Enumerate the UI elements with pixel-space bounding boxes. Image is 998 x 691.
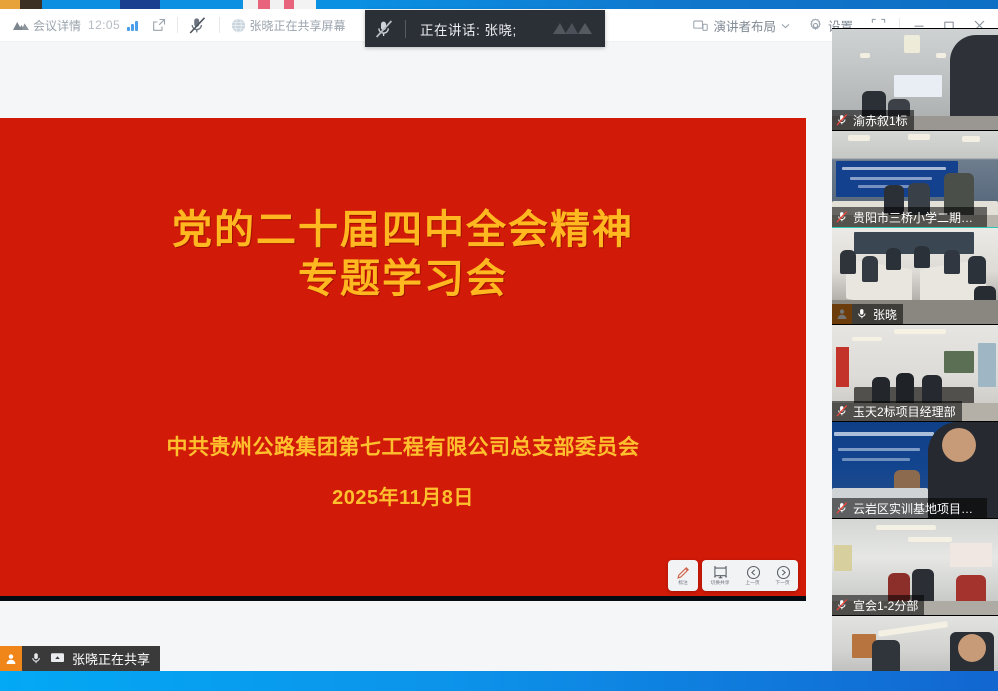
slide-bottom-bar bbox=[0, 596, 806, 601]
overlay-mic-off-icon bbox=[365, 20, 405, 38]
participant-tile[interactable]: 云岩区实训基地项目雷... bbox=[832, 421, 998, 518]
scene-light bbox=[852, 337, 882, 341]
scene-light bbox=[936, 53, 946, 58]
slide-date: 2025年11月8日 bbox=[0, 481, 806, 510]
toolbar-left-group: 会议详情 12:05 bbox=[0, 12, 353, 38]
share-area-footer bbox=[0, 604, 832, 644]
toolbar-divider bbox=[219, 17, 220, 33]
meeting-elapsed-time: 12:05 bbox=[88, 18, 120, 32]
active-speaker-label: 正在讲话: 张晓; bbox=[406, 19, 517, 39]
annotation-toolbar: 标注 bbox=[668, 560, 798, 591]
toolbar-divider bbox=[177, 17, 178, 33]
participant-name: 玉天2标项目经理部 bbox=[853, 403, 956, 420]
host-icon bbox=[5, 653, 17, 665]
next-page-button[interactable]: 下一页 bbox=[768, 560, 798, 591]
participant-tile[interactable]: 玉天2标项目经理部 bbox=[832, 324, 998, 421]
slide-title: 党的二十届四中全会精神 专题学习会 bbox=[0, 206, 806, 304]
participant-tile[interactable]: 渝赤叙1标 bbox=[832, 28, 998, 130]
annotation-group-controls: 切换共享 上一页 bbox=[702, 560, 798, 591]
scene-picture bbox=[944, 351, 974, 373]
popout-window-button[interactable] bbox=[145, 12, 173, 38]
next-page-icon bbox=[776, 565, 791, 580]
scene-light bbox=[848, 135, 870, 141]
bg-chip bbox=[0, 0, 20, 9]
participant-name: 渝赤叙1标 bbox=[853, 112, 908, 129]
next-page-label: 下一页 bbox=[776, 581, 790, 586]
scene-light bbox=[908, 134, 930, 140]
scene-poster bbox=[834, 545, 852, 571]
slide-content: 党的二十届四中全会精神 专题学习会 中共贵州公路集团第七工程有限公司总支部委员会… bbox=[0, 118, 806, 601]
mountain-logo-icon bbox=[13, 20, 29, 31]
sharer-status-label: 张晓正在共享屏幕 bbox=[250, 17, 346, 34]
prev-page-icon bbox=[746, 565, 761, 580]
bg-chip bbox=[20, 0, 42, 9]
mic-off-icon bbox=[836, 405, 849, 417]
annotate-button[interactable]: 标注 bbox=[668, 560, 698, 591]
switch-share-button[interactable]: 切换共享 bbox=[702, 560, 738, 591]
windows-taskbar[interactable] bbox=[0, 671, 998, 691]
participant-name-bar: 贵阳市三桥小学二期项目 bbox=[832, 207, 987, 227]
mic-off-icon bbox=[836, 502, 849, 514]
participant-name-bar: 张晓 bbox=[832, 304, 903, 324]
popout-window-icon bbox=[152, 18, 166, 32]
screen-share-icon bbox=[50, 652, 65, 665]
switch-share-label: 切换共享 bbox=[710, 581, 729, 586]
mic-off-icon bbox=[836, 599, 849, 611]
sharer-status: 张晓正在共享屏幕 bbox=[224, 12, 353, 38]
mic-off-icon bbox=[836, 114, 849, 126]
participant-name: 宣会1-2分部 bbox=[853, 597, 918, 614]
mic-off-icon bbox=[836, 211, 849, 223]
pencil-icon bbox=[676, 565, 691, 580]
participant-tile[interactable]: 贵阳市三桥小学二期项目 bbox=[832, 130, 998, 227]
scene-face bbox=[942, 428, 976, 462]
participant-name-bar: 宣会1-2分部 bbox=[832, 595, 924, 615]
host-badge bbox=[0, 646, 22, 671]
mute-all-button[interactable] bbox=[182, 12, 215, 38]
globe-icon bbox=[231, 18, 246, 33]
participant-name-bar: 玉天2标项目经理部 bbox=[832, 401, 962, 421]
mic-off-icon bbox=[189, 17, 208, 34]
desktop-background-strip bbox=[0, 0, 998, 9]
layout-selector-button[interactable]: 演讲者布局 bbox=[684, 13, 799, 39]
layout-icon bbox=[693, 19, 708, 33]
scene-person bbox=[914, 246, 930, 268]
meeting-details-button[interactable]: 会议详情 bbox=[6, 12, 88, 38]
presentation-slide[interactable]: 党的二十届四中全会精神 专题学习会 中共贵州公路集团第七工程有限公司总支部委员会… bbox=[0, 118, 806, 601]
mic-icon bbox=[30, 652, 43, 665]
shared-screen-area: 党的二十届四中全会精神 专题学习会 中共贵州公路集团第七工程有限公司总支部委员会… bbox=[0, 42, 832, 604]
annotation-group-draw: 标注 bbox=[668, 560, 698, 591]
scene-banner-text bbox=[842, 458, 910, 461]
gear-icon bbox=[808, 18, 823, 33]
participant-tile[interactable]: 宣会1-2分部 bbox=[832, 518, 998, 615]
scene-banner-text bbox=[842, 167, 946, 170]
scene-person bbox=[944, 250, 960, 274]
scene-banner bbox=[894, 75, 942, 97]
welink-logo-icon bbox=[551, 18, 595, 45]
scene-banner-text bbox=[850, 177, 932, 180]
participant-name-bar: 云岩区实训基地项目雷... bbox=[832, 498, 987, 518]
prev-page-label: 上一页 bbox=[746, 581, 760, 586]
participant-name: 贵阳市三桥小学二期项目 bbox=[853, 209, 981, 226]
scene-banner-text bbox=[838, 448, 920, 451]
share-indicator[interactable]: 张晓正在共享 bbox=[0, 646, 160, 671]
participant-tile-active-speaker[interactable]: 张晓 bbox=[832, 227, 998, 324]
slide-organization: 中共贵州公路集团第七工程有限公司总支部委员会 bbox=[0, 431, 806, 461]
scene-person bbox=[886, 248, 901, 270]
bg-chip bbox=[243, 0, 258, 9]
scene-light bbox=[904, 35, 920, 53]
participant-tile[interactable] bbox=[832, 615, 998, 675]
bg-chip bbox=[294, 0, 316, 9]
scene-light bbox=[876, 525, 936, 530]
network-signal-button[interactable] bbox=[120, 12, 145, 38]
scene-person bbox=[968, 256, 986, 284]
slide-title-line2: 专题学习会 bbox=[0, 255, 806, 304]
scene-window bbox=[978, 343, 996, 387]
scene-light bbox=[894, 329, 946, 334]
share-indicator-label: 张晓正在共享 bbox=[72, 649, 150, 668]
scene-banner-text bbox=[834, 432, 934, 436]
bg-chip bbox=[284, 0, 294, 9]
share-indicator-body: 张晓正在共享 bbox=[22, 646, 160, 671]
app-window: 会议详情 12:05 bbox=[0, 0, 998, 691]
chevron-down-icon bbox=[781, 23, 790, 29]
bg-chip bbox=[270, 0, 284, 9]
bg-chip bbox=[120, 0, 160, 9]
scene-person bbox=[872, 640, 900, 675]
mic-icon bbox=[856, 308, 869, 320]
scene-light bbox=[908, 537, 952, 542]
scene-person bbox=[840, 250, 856, 274]
scene-flag bbox=[836, 347, 849, 387]
participant-name-bar: 渝赤叙1标 bbox=[832, 110, 914, 130]
participant-rail[interactable]: 渝赤叙1标 bbox=[832, 28, 998, 683]
slide-title-line1: 党的二十届四中全会精神 bbox=[0, 206, 806, 255]
scene-person bbox=[862, 256, 878, 282]
prev-page-button[interactable]: 上一页 bbox=[738, 560, 768, 591]
monitor-icon bbox=[713, 566, 728, 580]
scene-light bbox=[962, 136, 980, 142]
signal-bars-icon bbox=[127, 20, 138, 31]
annotate-label: 标注 bbox=[678, 581, 688, 586]
video-frame bbox=[832, 616, 998, 675]
participant-name: 云岩区实训基地项目雷... bbox=[853, 500, 981, 517]
layout-label: 演讲者布局 bbox=[713, 16, 776, 35]
scene-face bbox=[958, 634, 986, 662]
bg-chip bbox=[258, 0, 270, 9]
scene-light bbox=[860, 53, 870, 58]
participant-name: 张晓 bbox=[873, 306, 897, 323]
active-speaker-overlay: 正在讲话: 张晓; bbox=[365, 10, 605, 47]
scene-poster bbox=[950, 543, 992, 567]
meeting-details-label: 会议详情 bbox=[33, 17, 81, 34]
